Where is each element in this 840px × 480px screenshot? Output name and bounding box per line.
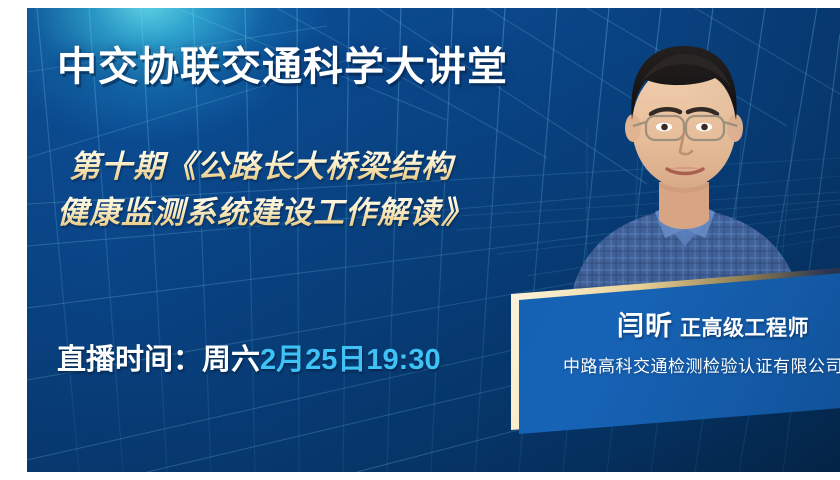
speaker-row-name-title: 闫昕正高级工程师	[565, 304, 840, 343]
speaker-panel-text: 闫昕正高级工程师 中路高科交通检测检验认证有限公司	[531, 296, 840, 377]
speaker-panel: 闫昕正高级工程师 中路高科交通检测检验认证有限公司	[507, 266, 840, 446]
subtitle-line-1: 第十期《公路长大桥梁结构	[69, 144, 569, 190]
live-time-label: 直播时间：	[57, 344, 202, 376]
page-title: 中交协联交通科学大讲堂	[57, 34, 617, 92]
subtitle: 第十期《公路长大桥梁结构 健康监测系统建设工作解读》	[69, 144, 569, 236]
speaker-title: 正高级工程师	[680, 317, 809, 340]
live-time-day: 周六	[202, 344, 260, 376]
live-time: 直播时间：周六2月25日19:30	[57, 336, 441, 378]
live-time-date: 2月25日19:30	[260, 344, 441, 376]
speaker-name: 闫昕	[617, 311, 673, 341]
subtitle-line-2: 健康监测系统建设工作解读》	[57, 190, 569, 236]
poster-root: 中交协联交通科学大讲堂 第十期《公路长大桥梁结构 健康监测系统建设工作解读》 直…	[0, 0, 840, 480]
speaker-organization: 中路高科交通检测检验认证有限公司	[545, 352, 840, 377]
poster-banner: 中交协联交通科学大讲堂 第十期《公路长大桥梁结构 健康监测系统建设工作解读》 直…	[27, 8, 840, 472]
